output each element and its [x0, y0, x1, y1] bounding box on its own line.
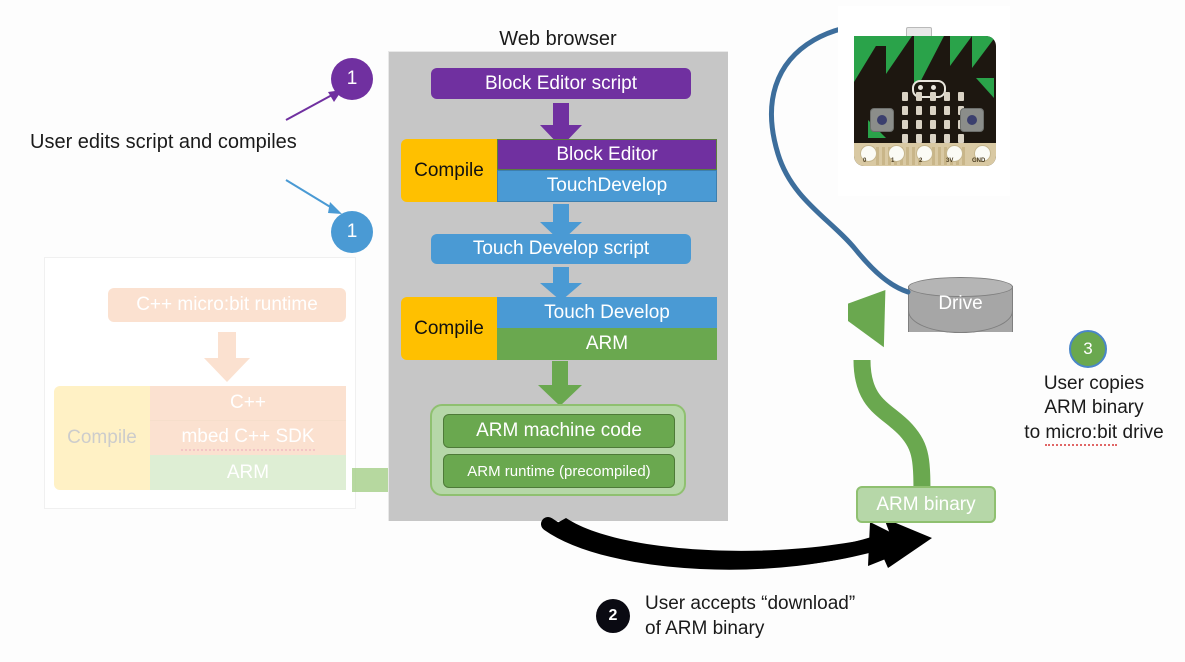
pointer-line-to-badge-1-purple-icon — [284, 88, 344, 122]
compile-1-target-touchdevelop: TouchDevelop — [497, 170, 717, 202]
microbit-board-image: 0 1 2 3V GND — [838, 6, 1010, 196]
microbit-pin-label-2: 2 — [919, 158, 922, 164]
caption-step3-line1: User copies — [1014, 372, 1174, 396]
microbit-pin-label-3v: 3V — [946, 158, 953, 164]
legacy-cpp-panel: C++ micro:bit runtime Compile C++ mbed C… — [45, 258, 355, 508]
caption-step3-microbit-word: micro:bit — [1045, 422, 1117, 446]
caption-step2-line2: of ARM binary — [645, 617, 855, 642]
caption-step3-line3-post: drive — [1117, 422, 1163, 443]
microbit-pin-label-gnd: GND — [972, 158, 985, 164]
compile-group-2: Compile Touch Develop ARM — [401, 297, 717, 360]
compile-group-1: Compile Block Editor TouchDevelop — [401, 139, 717, 202]
caption-step3-line3-pre: to — [1024, 422, 1045, 443]
arm-machine-code-box[interactable]: ARM machine code — [443, 414, 675, 448]
caption-step3-line2: ARM binary — [1014, 396, 1174, 420]
microbit-button-a — [870, 108, 894, 132]
microbit-pin-label-1: 1 — [891, 158, 894, 164]
microbit-edge-connector: 0 1 2 3V GND — [854, 143, 996, 166]
cpp-runtime-label: C++ micro:bit runtime — [136, 294, 318, 316]
caption-step3-line3: to micro:bit drive — [1014, 421, 1174, 445]
green-down-arrow-icon — [535, 361, 585, 408]
microbit-button-b — [960, 108, 984, 132]
legacy-row-mbed: mbed C++ SDK — [150, 420, 346, 455]
compile-1-label: Compile — [401, 139, 497, 202]
caption-user-accepts-download: User accepts “download” of ARM binary — [645, 592, 855, 641]
legacy-row-cpp: C++ — [150, 386, 346, 420]
legacy-row-arm: ARM — [150, 455, 346, 490]
step-badge-3: 3 — [1069, 330, 1107, 368]
web-browser-title: Web browser — [388, 28, 728, 51]
block-editor-script-box[interactable]: Block Editor script — [431, 68, 691, 99]
compile-2-source-touchdevelop: Touch Develop — [497, 297, 717, 328]
cpp-microbit-runtime-box: C++ micro:bit runtime — [108, 288, 346, 322]
caption-step2-line1: User accepts “download” — [645, 592, 855, 617]
diagram-canvas: C++ micro:bit runtime Compile C++ mbed C… — [0, 0, 1185, 662]
pointer-line-to-badge-1-blue-icon — [284, 176, 344, 216]
arm-output-container: ARM machine code ARM runtime (precompile… — [430, 404, 686, 496]
compile-2-target-arm: ARM — [497, 328, 717, 360]
legacy-compile-group: Compile C++ mbed C++ SDK ARM — [54, 386, 346, 490]
caption-user-edits-script: User edits script and compiles — [30, 131, 297, 154]
arm-binary-box[interactable]: ARM binary — [856, 486, 996, 523]
step-badge-1-blue: 1 — [331, 211, 373, 253]
compile-1-source-block-editor: Block Editor — [497, 139, 717, 170]
legacy-compile-label: Compile — [54, 386, 150, 490]
touch-develop-script-box[interactable]: Touch Develop script — [431, 234, 691, 264]
caption-user-copies-arm-binary: User copies ARM binary to micro:bit driv… — [1014, 372, 1174, 445]
step-badge-2: 2 — [596, 599, 630, 633]
arm-runtime-precompiled-box[interactable]: ARM runtime (precompiled) — [443, 454, 675, 488]
microbit-pin-label-0: 0 — [863, 158, 866, 164]
compile-2-label: Compile — [401, 297, 497, 360]
legacy-down-arrow-icon — [198, 332, 256, 384]
